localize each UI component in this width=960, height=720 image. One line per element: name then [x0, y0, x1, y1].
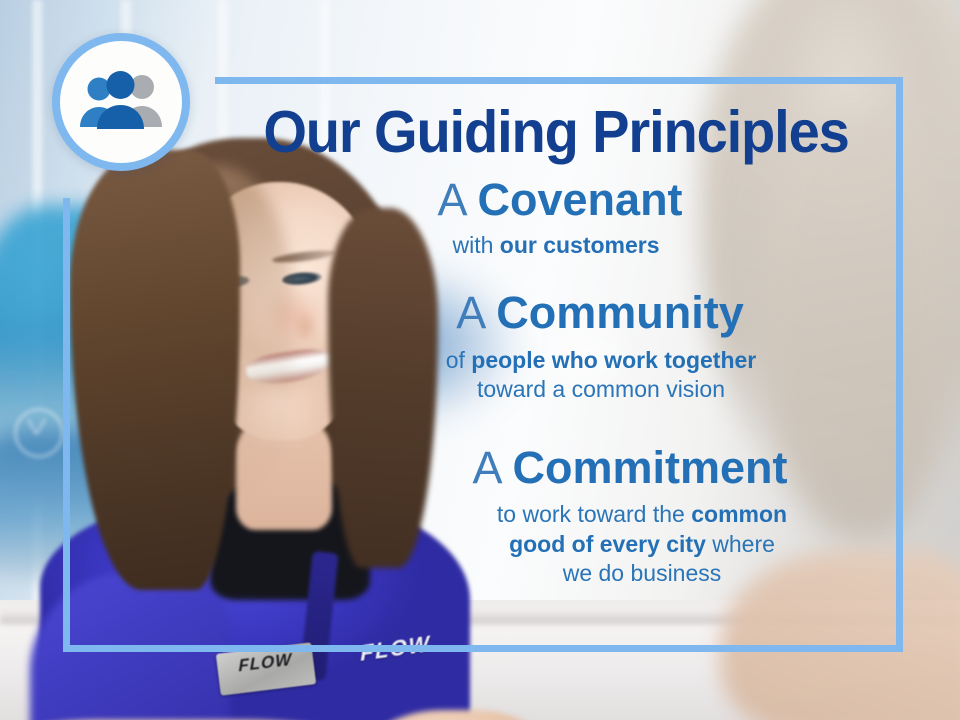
page-title: Our Guiding Principles: [232, 102, 880, 163]
principle-article: A: [456, 287, 484, 338]
subtext-plain: where: [706, 531, 775, 557]
subtext-emphasis: people who work together: [471, 347, 756, 373]
principle-subtext: to work toward the commongood of every c…: [387, 500, 897, 588]
subtext-emphasis: our customers: [500, 232, 660, 258]
principle-keyword: Covenant: [478, 174, 683, 225]
subtext-plain: of: [446, 347, 472, 373]
principle-keyword: Community: [496, 287, 744, 338]
subtext-plain: we do business: [563, 560, 722, 586]
vw-roundel-icon: [14, 408, 64, 458]
people-group-badge: [52, 33, 190, 171]
subtext-emphasis: common: [691, 501, 787, 527]
principle-heading: A Commitment: [363, 443, 897, 493]
principle-subtext: with our customers: [215, 231, 897, 260]
nametag-logo: FLOW: [238, 650, 292, 677]
people-group-icon: [75, 71, 167, 133]
subtext-plain: to work toward the: [497, 501, 691, 527]
principles-content: Our Guiding Principles A Covenant with o…: [215, 84, 897, 588]
principle-heading: A Covenant: [223, 175, 897, 225]
principle-subtext: of people who work togethertoward a comm…: [305, 346, 897, 405]
principle-article: A: [437, 174, 465, 225]
principle-covenant: A Covenant with our customers: [215, 175, 897, 260]
principle-heading: A Community: [303, 288, 897, 338]
principle-article: A: [472, 442, 500, 493]
principle-keyword: Commitment: [513, 442, 788, 493]
subtext-plain: toward a common vision: [477, 376, 725, 402]
subtext-plain: with: [452, 232, 499, 258]
principle-community: A Community of people who work togethert…: [215, 288, 897, 404]
subtext-emphasis: good of every city: [509, 531, 706, 557]
principle-commitment: A Commitment to work toward the commongo…: [215, 443, 897, 589]
guiding-principles-graphic: FLOW FLOW Our Guiding Principles: [0, 0, 960, 720]
